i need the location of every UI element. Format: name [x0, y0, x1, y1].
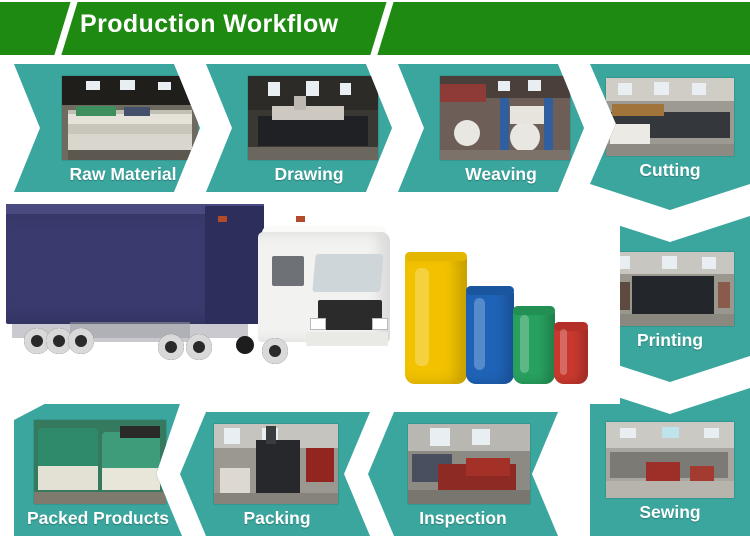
step-label-drawing: Drawing	[234, 164, 384, 185]
red-bag	[554, 322, 588, 384]
green-bag	[513, 306, 555, 384]
step-tile-sewing[interactable]: Sewing	[590, 388, 750, 536]
step-label-inspection: Inspection	[388, 508, 538, 529]
step-tile-weaving[interactable]: Weaving	[398, 64, 584, 192]
step-label-packed-products: Packed Products	[20, 508, 176, 529]
step-label-weaving: Weaving	[426, 164, 576, 185]
header-slash-left-icon	[51, 2, 80, 55]
step-thumbnail-raw-material	[62, 76, 198, 160]
step-label-raw-material: Raw Material	[48, 164, 198, 185]
step-tile-packing[interactable]: Packing	[180, 412, 370, 536]
step-thumbnail-inspection	[408, 424, 530, 504]
step-tile-drawing[interactable]: Drawing	[206, 64, 392, 192]
yellow-bag	[405, 252, 467, 384]
step-tile-cutting[interactable]: Cutting	[590, 64, 750, 210]
step-label-sewing: Sewing	[595, 502, 745, 523]
step-thumbnail-packed-products	[34, 420, 166, 504]
step-tile-inspection[interactable]: Inspection	[368, 412, 558, 536]
step-thumbnail-cutting	[606, 78, 734, 156]
step-thumbnail-sewing	[606, 422, 734, 498]
step-thumbnail-weaving	[440, 76, 570, 160]
step-thumbnail-printing	[606, 252, 734, 326]
step-label-packing: Packing	[202, 508, 352, 529]
header-slash-right-icon	[367, 2, 396, 55]
step-thumbnail-packing	[214, 424, 338, 504]
page-title: Production Workflow	[80, 10, 339, 39]
step-label-cutting: Cutting	[595, 160, 745, 181]
production-workflow-infographic: Production Workflow Raw Material	[0, 0, 750, 552]
step-thumbnail-drawing	[248, 76, 378, 160]
blue-bag	[466, 286, 514, 384]
step-tile-raw-material[interactable]: Raw Material	[14, 64, 200, 192]
center-illustration	[0, 196, 620, 404]
step-tile-packed-products[interactable]: Packed Products	[14, 398, 182, 536]
